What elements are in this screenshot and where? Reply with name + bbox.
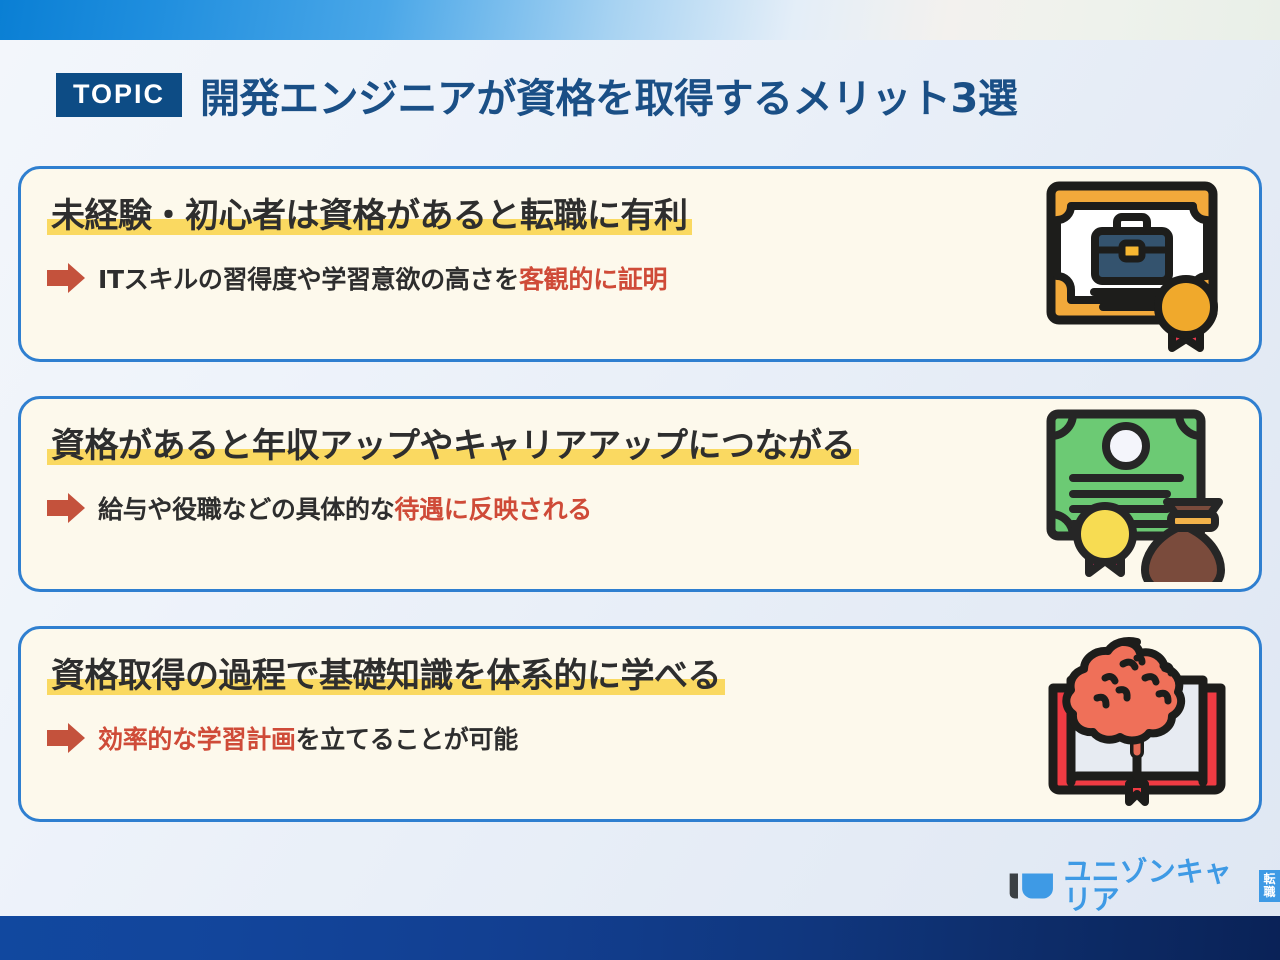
- card-3-heading: 資格取得の過程で基礎知識を体系的に学べる: [47, 657, 725, 696]
- money-certificate-bag-icon: [1037, 406, 1237, 582]
- card-2-sub-prefix: 給与や役職などの具体的な: [98, 495, 394, 524]
- card-1-sub-text: ITスキルの習得度や学習意欲の高さを客観的に証明: [98, 260, 667, 296]
- topic-badge: TOPIC: [56, 73, 182, 117]
- logo-badge: 転 職: [1259, 870, 1280, 902]
- arrow-right-icon: [47, 723, 85, 753]
- merit-card-2: 資格があると年収アップやキャリアアップにつながる 給与や役職などの具体的な待遇に…: [18, 396, 1262, 592]
- card-2-sub-accent: 待遇に反映される: [394, 495, 592, 524]
- page-title: 開発エンジニアが資格を取得するメリット3選: [200, 66, 1017, 124]
- logo-wordmark: ユニゾンキャリア: [1064, 858, 1250, 914]
- card-1-body: 未経験・初心者は資格があると転職に有利 ITスキルの習得度や学習意欲の高さを客観…: [47, 197, 977, 296]
- logo-badge-line2: 職: [1262, 886, 1277, 899]
- card-1-heading: 未経験・初心者は資格があると転職に有利: [47, 197, 692, 236]
- card-3-sub-suffix: を立てることが可能: [296, 725, 518, 754]
- unison-logo-mark: [1008, 869, 1055, 903]
- card-2-body: 資格があると年収アップやキャリアアップにつながる 給与や役職などの具体的な待遇に…: [47, 427, 977, 526]
- card-2-sub-text: 給与や役職などの具体的な待遇に反映される: [98, 490, 592, 526]
- brain-book-icon: [1037, 636, 1237, 812]
- infographic-slide: TOPIC 開発エンジニアが資格を取得するメリット3選 未経験・初心者は資格があ…: [0, 0, 1280, 960]
- card-2-heading: 資格があると年収アップやキャリアアップにつながる: [47, 427, 859, 466]
- arrow-right-icon: [47, 263, 85, 293]
- card-3-body: 資格取得の過程で基礎知識を体系的に学べる 効率的な学習計画を立てることが可能: [47, 657, 977, 756]
- card-3-sub-accent: 効率的な学習計画: [98, 725, 296, 754]
- top-gradient-band: [0, 0, 1280, 40]
- card-3-sub-text: 効率的な学習計画を立てることが可能: [98, 720, 518, 756]
- card-1-subline: ITスキルの習得度や学習意欲の高さを客観的に証明: [47, 260, 977, 296]
- merit-card-3: 資格取得の過程で基礎知識を体系的に学べる 効率的な学習計画を立てることが可能: [18, 626, 1262, 822]
- card-2-subline: 給与や役職などの具体的な待遇に反映される: [47, 490, 977, 526]
- bottom-gradient-band: [0, 916, 1280, 960]
- page-header: TOPIC 開発エンジニアが資格を取得するメリット3選: [56, 66, 1017, 124]
- card-3-subline: 効率的な学習計画を立てることが可能: [47, 720, 977, 756]
- merit-card-1: 未経験・初心者は資格があると転職に有利 ITスキルの習得度や学習意欲の高さを客観…: [18, 166, 1262, 362]
- card-1-sub-accent: 客観的に証明: [519, 265, 667, 294]
- certificate-briefcase-icon: [1037, 176, 1237, 352]
- brand-logo: ユニゾンキャリア 転 職: [1008, 858, 1280, 914]
- card-1-sub-prefix: ITスキルの習得度や学習意欲の高さを: [98, 265, 519, 294]
- arrow-right-icon: [47, 493, 85, 523]
